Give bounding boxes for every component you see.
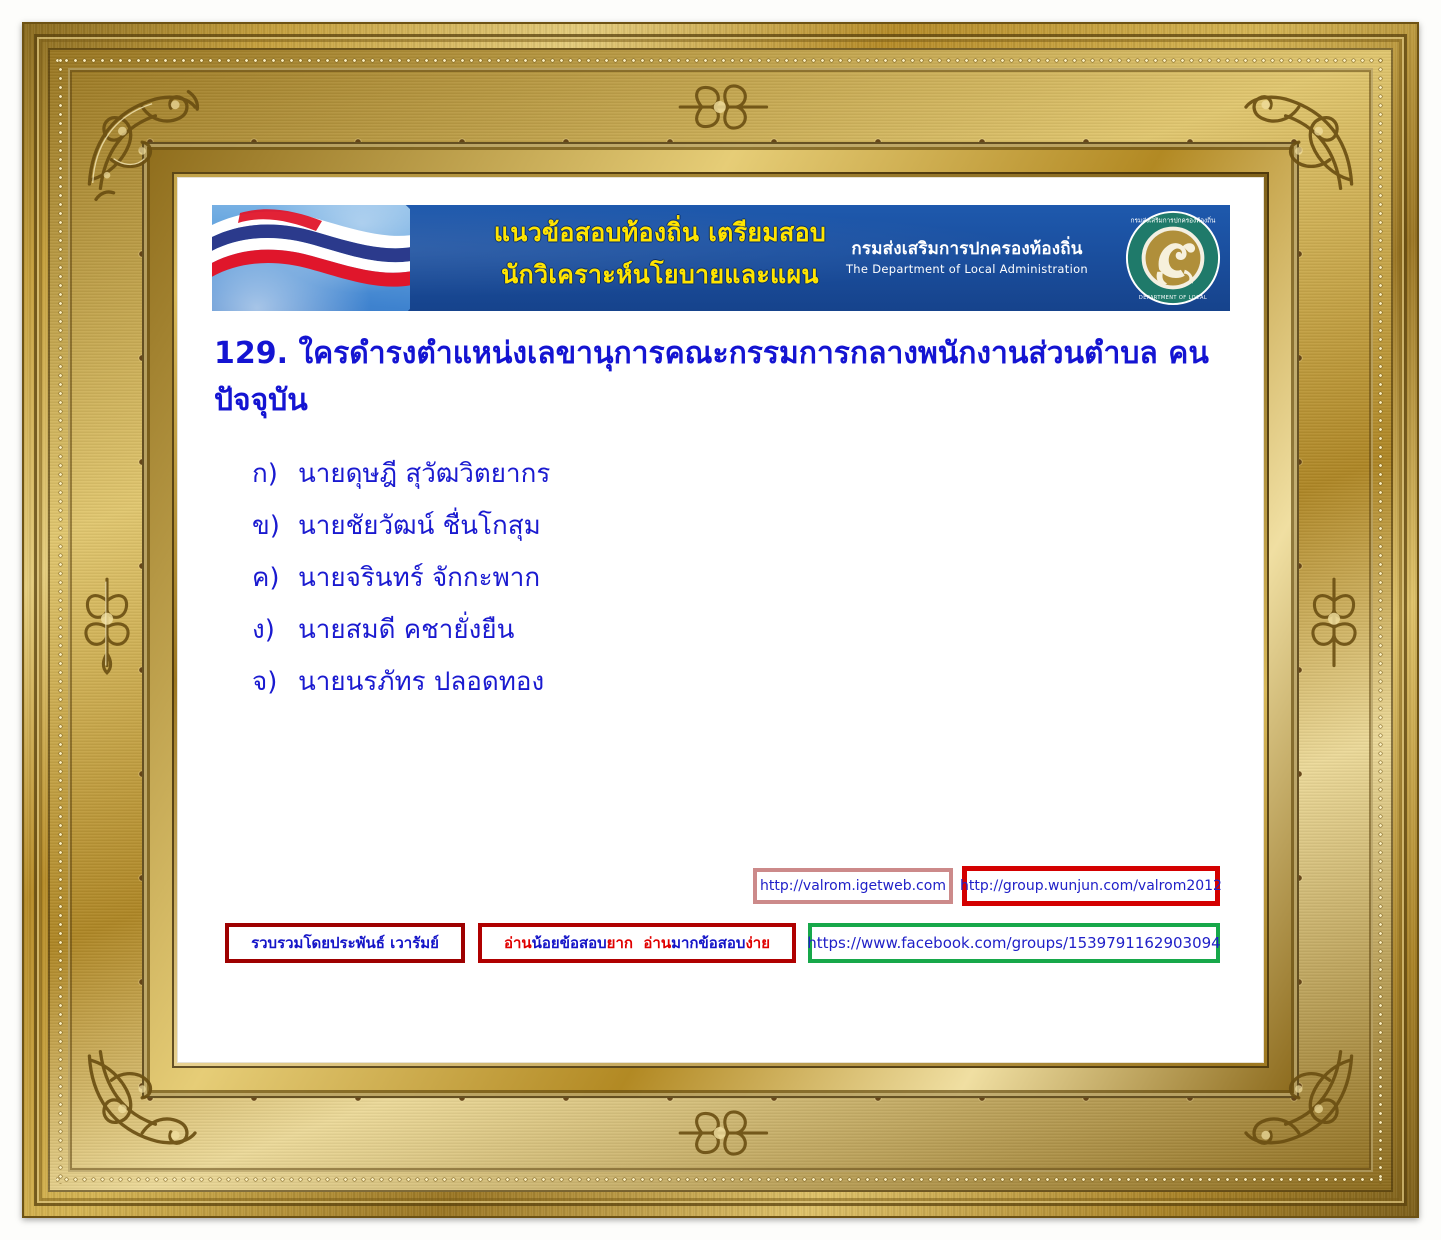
answer-choices-list: ก) นายดุษฎี สุวัฒวิตยากร ข) นายชัยวัฒน์ … [252,448,1192,708]
department-seal-icon: กรมส่งเสริมการปกครองท้องถิ่น DEPARTMENT … [1124,209,1222,307]
facebook-url-box[interactable]: https://www.facebook.com/groups/15397911… [808,923,1220,963]
frame-rosette-top [661,68,781,146]
department-name-english: The Department of Local Administration [832,261,1102,277]
choice-text: นายชัยวัฒน์ ชื่นโกสุม [298,500,1192,552]
motto-segment: ง่าย [745,931,770,955]
choice-text: นายนรภัทร ปลอดทอง [298,656,1192,708]
motto-text: อ่านน้อยข้อสอบยาก อ่านมากข้อสอบง่าย [504,931,770,955]
author-credit-text: รวบรวมโดยประพันธ์ เวารัมย์ [251,931,439,955]
wunjun-url-text: http://group.wunjun.com/valrom2012 [960,878,1222,894]
motto-segment: ยาก [607,931,633,955]
banner-title: แนวข้อสอบท้องถิ่น เตรียมสอบ นักวิเคราะห์… [450,213,870,297]
answer-choice-kho2[interactable]: ค) นายจรินทร์ จักกะพาก [252,552,1192,604]
department-name-thai: กรมส่งเสริมการปกครองท้องถิ่น [832,237,1102,261]
facebook-url-text: https://www.facebook.com/groups/15397911… [807,934,1220,952]
answer-choice-ngo[interactable]: ง) นายสมดี คชายั่งยืน [252,604,1192,656]
answer-choice-kho[interactable]: ข) นายชัยวัฒน์ ชื่นโกสุม [252,500,1192,552]
choice-text: นายสมดี คชายั่งยืน [298,604,1192,656]
wunjun-url-box[interactable]: http://group.wunjun.com/valrom2012 [962,866,1220,906]
banner-title-line-1: แนวข้อสอบท้องถิ่น เตรียมสอบ [450,213,870,253]
motto-segment: อ่าน [504,931,532,955]
header-banner: แนวข้อสอบท้องถิ่น เตรียมสอบ นักวิเคราะห์… [212,205,1230,311]
choice-label: ค) [252,552,298,604]
choice-label: จ) [252,656,298,708]
motto-box: อ่านน้อยข้อสอบยาก อ่านมากข้อสอบง่าย [478,923,796,963]
screenshot-root: แนวข้อสอบท้องถิ่น เตรียมสอบ นักวิเคราะห์… [0,0,1441,1240]
answer-choice-cho[interactable]: จ) นายนรภัทร ปลอดทอง [252,656,1192,708]
choice-label: ข) [252,500,298,552]
choice-text: นายดุษฎี สุวัฒวิตยากร [298,448,1192,500]
department-name: กรมส่งเสริมการปกครองท้องถิ่น The Departm… [832,237,1102,277]
frame-rosette-right [1295,560,1373,680]
author-credit-box: รวบรวมโดยประพันธ์ เวารัมย์ [225,923,465,963]
choice-label: ง) [252,604,298,656]
svg-text:กรมส่งเสริมการปกครองท้องถิ่น: กรมส่งเสริมการปกครองท้องถิ่น [1131,216,1216,225]
frame-rosette-bottom [661,1094,781,1172]
motto-segment: มากข้อสอบ [671,931,745,955]
answer-choice-ko[interactable]: ก) นายดุษฎี สุวัฒวิตยากร [252,448,1192,500]
banner-title-line-2: นักวิเคราะห์นโยบายและแผน [450,253,870,297]
frame-rosette-left [68,560,146,680]
question-text: 129. ใครดำรงตำแหน่งเลขานุการคณะกรรมการกล… [214,330,1214,424]
choice-label: ก) [252,448,298,500]
svg-text:DEPARTMENT OF LOCAL: DEPARTMENT OF LOCAL [1139,295,1207,301]
choice-text: นายจรินทร์ จักกะพาก [298,552,1192,604]
motto-segment: อ่าน [633,931,671,955]
thai-flag-icon [212,205,410,311]
igetweb-url-box[interactable]: http://valrom.igetweb.com [753,868,953,904]
igetweb-url-text: http://valrom.igetweb.com [760,878,946,894]
slide-canvas: แนวข้อสอบท้องถิ่น เตรียมสอบ นักวิเคราะห์… [200,198,1243,1028]
motto-segment: น้อยข้อสอบ [532,931,607,955]
